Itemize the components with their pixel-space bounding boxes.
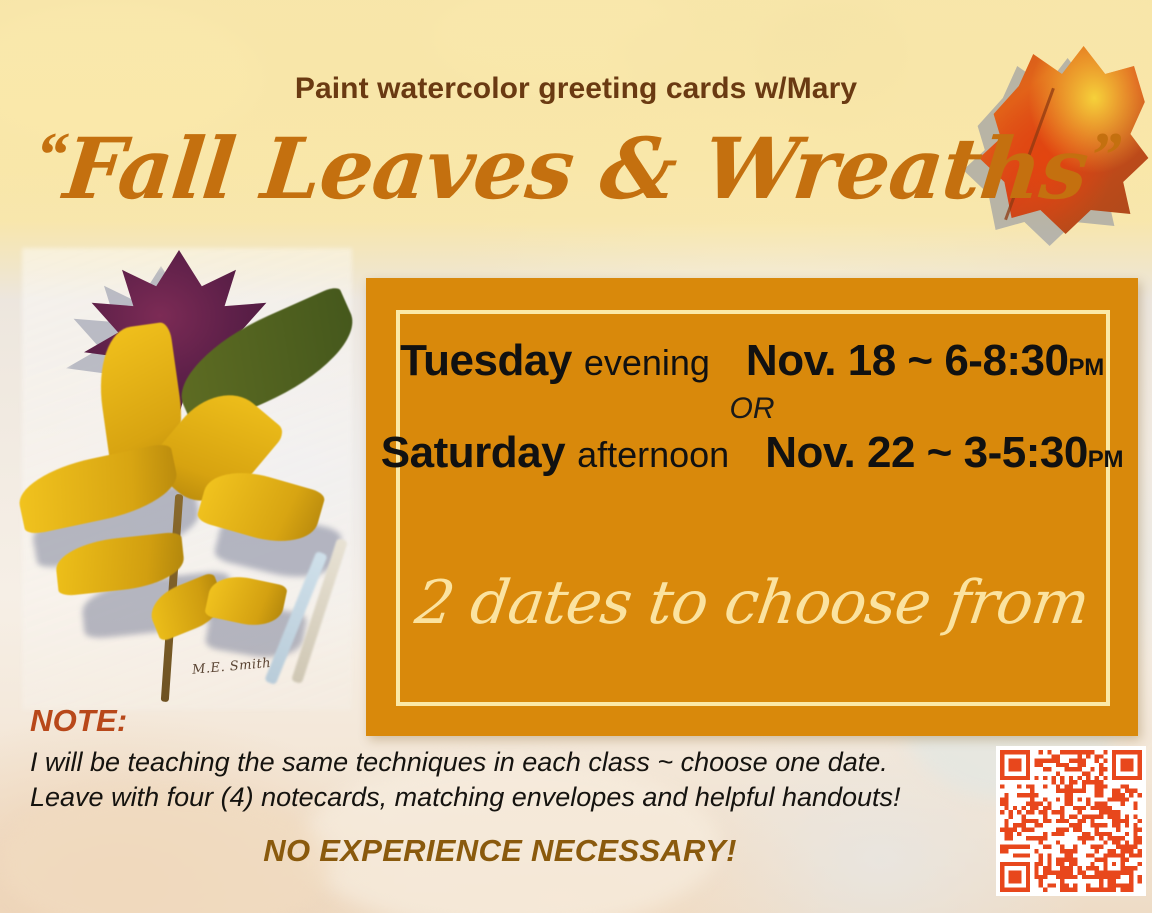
schedule-day: Tuesday — [400, 336, 572, 386]
page-title: “Fall Leaves & Wreaths” — [0, 118, 1152, 218]
subtitle: Paint watercolor greeting cards w/Mary — [0, 72, 1152, 106]
note-body: I will be teaching the same techniques i… — [30, 745, 990, 816]
schedule-part-of-day: afternoon — [577, 434, 729, 476]
schedule-ampm: PM — [1069, 354, 1104, 382]
qr-code-graphic[interactable] — [1000, 750, 1142, 892]
close-quote-glyph: ” — [1085, 119, 1123, 190]
flyer-canvas: M.E. Smith Paint watercolor greeting car… — [0, 0, 1152, 913]
schedule-row-tuesday: Tuesday evening Nov. 18 ~ 6-8:30PM — [366, 336, 1138, 386]
schedule-day: Saturday — [381, 428, 565, 478]
note-line-2: Leave with four (4) notecards, matching … — [30, 780, 990, 815]
qr-code[interactable] — [996, 746, 1146, 896]
choose-date-script: 2 dates to choose from — [361, 568, 1143, 638]
schedule-datetime: Nov. 18 ~ 6-8:30 — [746, 336, 1069, 386]
leaf-painting-image — [22, 248, 352, 710]
schedule-separator: OR — [366, 392, 1138, 426]
schedule-datetime: Nov. 22 ~ 3-5:30 — [765, 428, 1088, 478]
schedule-row-saturday: Saturday afternoon Nov. 22 ~ 3-5:30PM — [366, 428, 1138, 478]
schedule-panel: Tuesday evening Nov. 18 ~ 6-8:30PM OR Sa… — [366, 278, 1138, 736]
schedule-list: Tuesday evening Nov. 18 ~ 6-8:30PM OR Sa… — [366, 336, 1138, 478]
note-label: NOTE: — [30, 703, 127, 739]
schedule-part-of-day: evening — [584, 342, 710, 384]
note-line-1: I will be teaching the same techniques i… — [30, 745, 990, 780]
no-experience-callout: NO EXPERIENCE NECESSARY! — [0, 833, 1000, 869]
title-text: Fall Leaves & Wreaths — [60, 119, 1093, 218]
schedule-ampm: PM — [1088, 446, 1123, 474]
